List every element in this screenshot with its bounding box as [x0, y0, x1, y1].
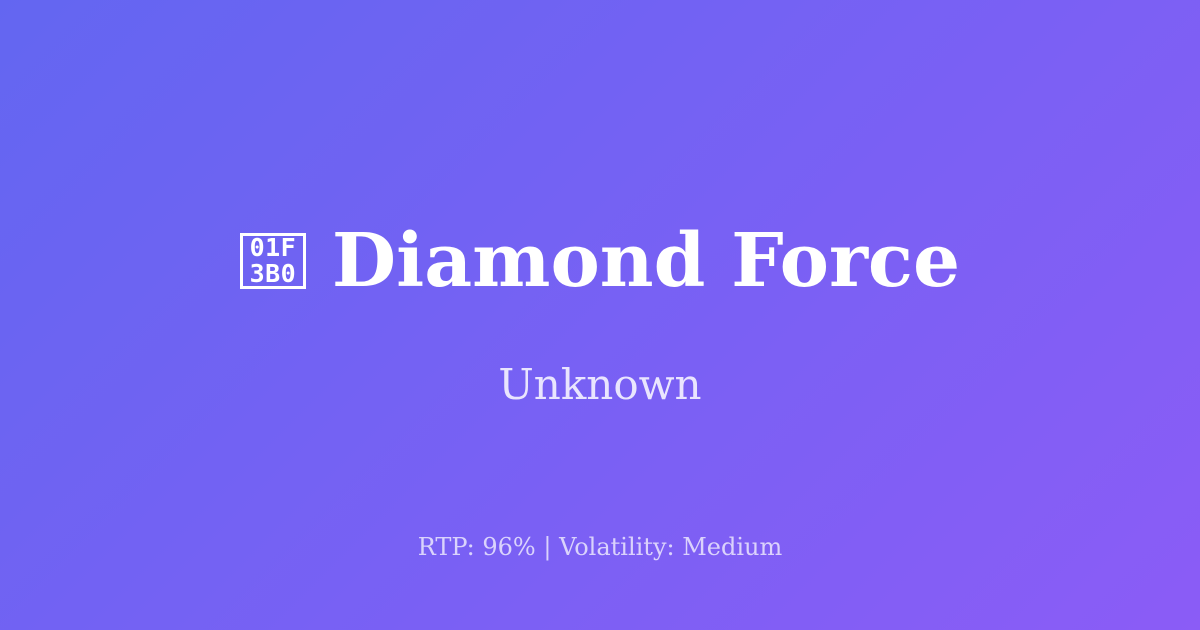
page-title: Diamond Force: [332, 222, 960, 300]
title-row: 01F 3B0 Diamond Force: [240, 222, 960, 300]
tofu-codepoint-bottom: 3B0: [250, 261, 297, 287]
slot-machine-emoji-icon: 01F 3B0: [240, 233, 306, 289]
game-meta-line: RTP: 96% | Volatility: Medium: [0, 533, 1200, 562]
game-provider-subtitle: Unknown: [498, 362, 701, 408]
game-banner-card: 01F 3B0 Diamond Force Unknown RTP: 96% |…: [0, 0, 1200, 630]
tofu-codepoint-top: 01F: [250, 235, 297, 261]
